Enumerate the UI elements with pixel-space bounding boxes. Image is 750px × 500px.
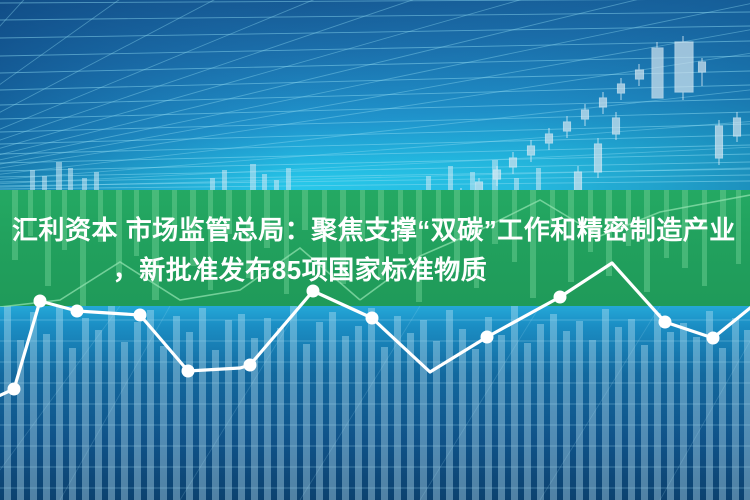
news-banner: 汇利资本 市场监管总局：聚焦支撑“双碳”工作和精密制造产业 ，新批准发布85项国… [0, 0, 750, 500]
background-artwork [0, 0, 750, 500]
